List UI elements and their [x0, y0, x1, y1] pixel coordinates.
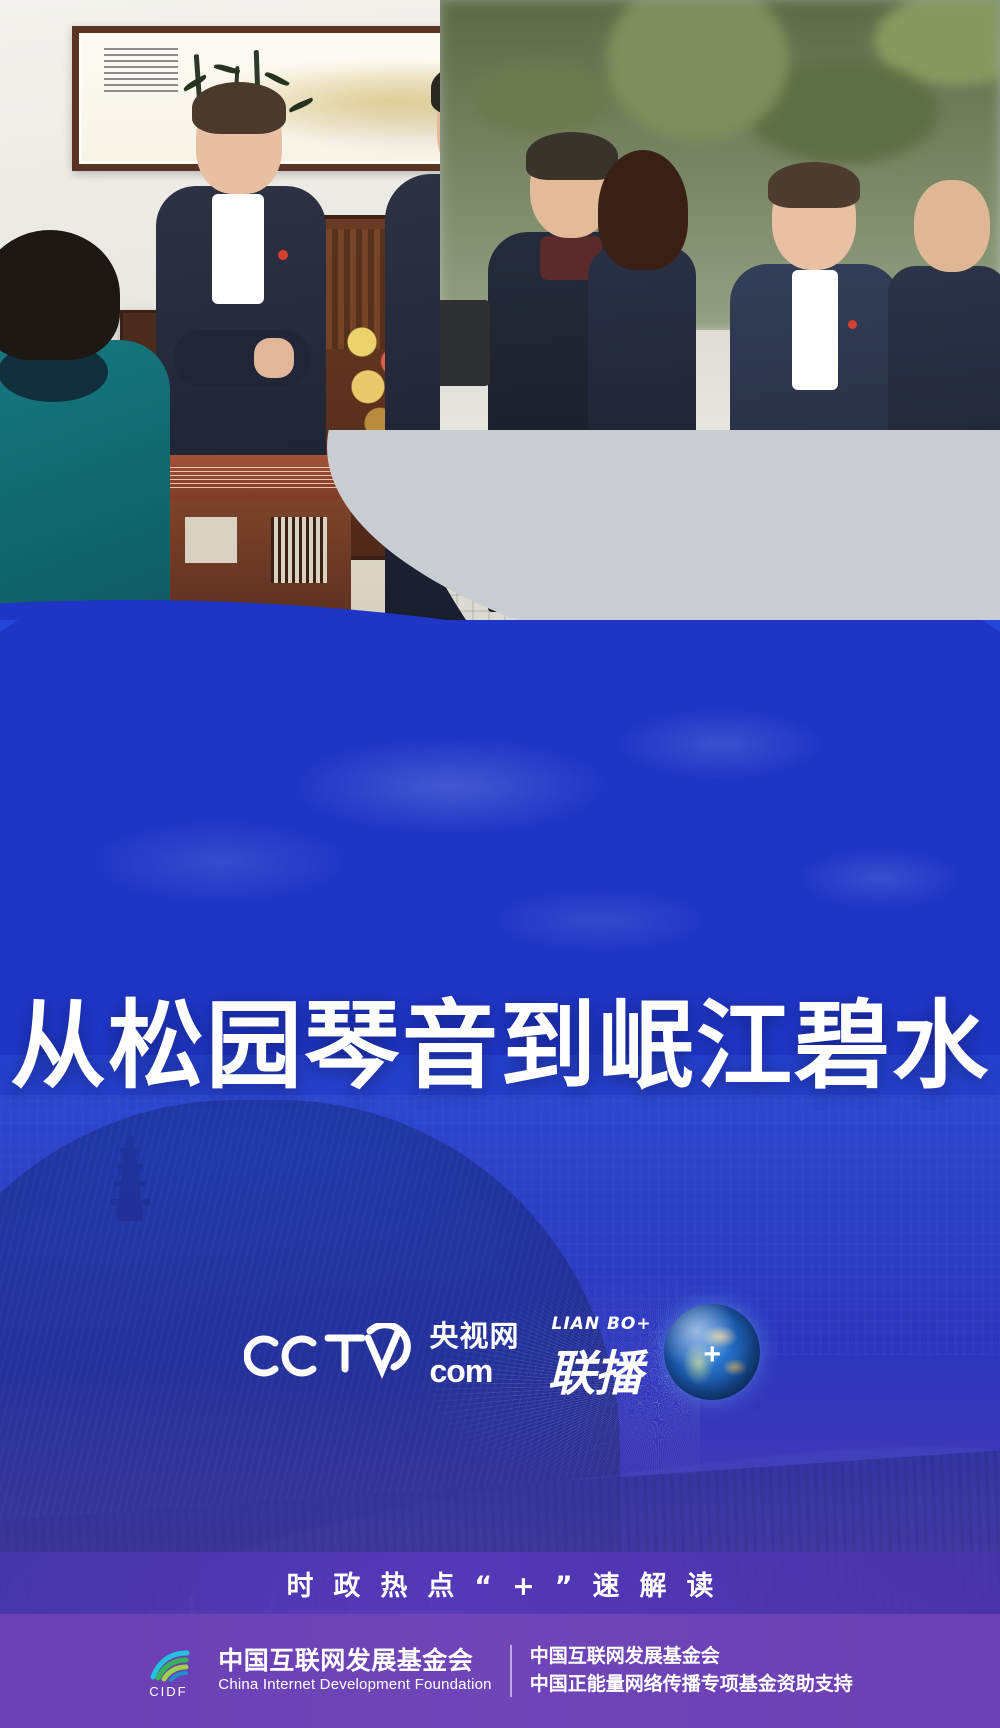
cctv-com-label: com — [429, 1355, 492, 1387]
lapel-pin-icon — [278, 250, 288, 260]
calligraphy-text — [104, 48, 178, 96]
funding-line-2: 中国正能量网络传播专项基金资助支持 — [530, 1673, 853, 1697]
cctv-wordmark-icon — [244, 1323, 422, 1387]
cidf-cn-label: 中国互联网发展基金会 — [218, 1647, 491, 1676]
cidf-name-block: 中国互联网发展基金会 China Internet Development Fo… — [218, 1647, 491, 1695]
photo-collage — [0, 0, 1000, 700]
footer-bar: CIDF 中国互联网发展基金会 China Internet Developme… — [0, 1614, 1000, 1728]
tagline-text: 时政热点“+”速解读 — [266, 1564, 733, 1603]
lianbo-cn-label: 联播 — [548, 1334, 642, 1404]
cctv-logo[interactable]: 央视网 com — [244, 1323, 519, 1387]
funding-line-1: 中国互联网发展基金会 — [530, 1645, 853, 1669]
funding-credit-block: 中国互联网发展基金会 中国正能量网络传播专项基金资助支持 — [530, 1645, 853, 1697]
poster-root: 从松园琴音到岷江碧水 央视网 com — [0, 0, 1000, 1728]
briefcase-icon — [440, 300, 490, 386]
lianbo-en-label: LIAN BO+ — [552, 1314, 652, 1334]
cidf-abbr-label: CIDF — [149, 1684, 187, 1699]
cidf-mark-icon: CIDF — [147, 1645, 207, 1697]
cidf-logo[interactable]: CIDF 中国互联网发展基金会 China Internet Developme… — [147, 1645, 491, 1697]
tagline-bar: 时政热点“+”速解读 — [0, 1552, 1000, 1614]
person-guqin-player — [0, 230, 170, 660]
lianbo-plus-symbol: + — [704, 1338, 722, 1372]
lianbo-plus-logo[interactable]: LIAN BO+ 联播 + — [546, 1304, 756, 1406]
page-title: 从松园琴音到岷江碧水 — [0, 998, 1000, 1096]
cidf-en-label: China Internet Development Foundation — [218, 1676, 491, 1695]
logo-row: 央视网 com LIAN BO+ 联播 + — [0, 1300, 1000, 1410]
footer-divider — [510, 1645, 512, 1697]
cctv-text-block: 央视网 com — [429, 1323, 519, 1387]
cctv-cn-label: 央视网 — [429, 1323, 519, 1352]
